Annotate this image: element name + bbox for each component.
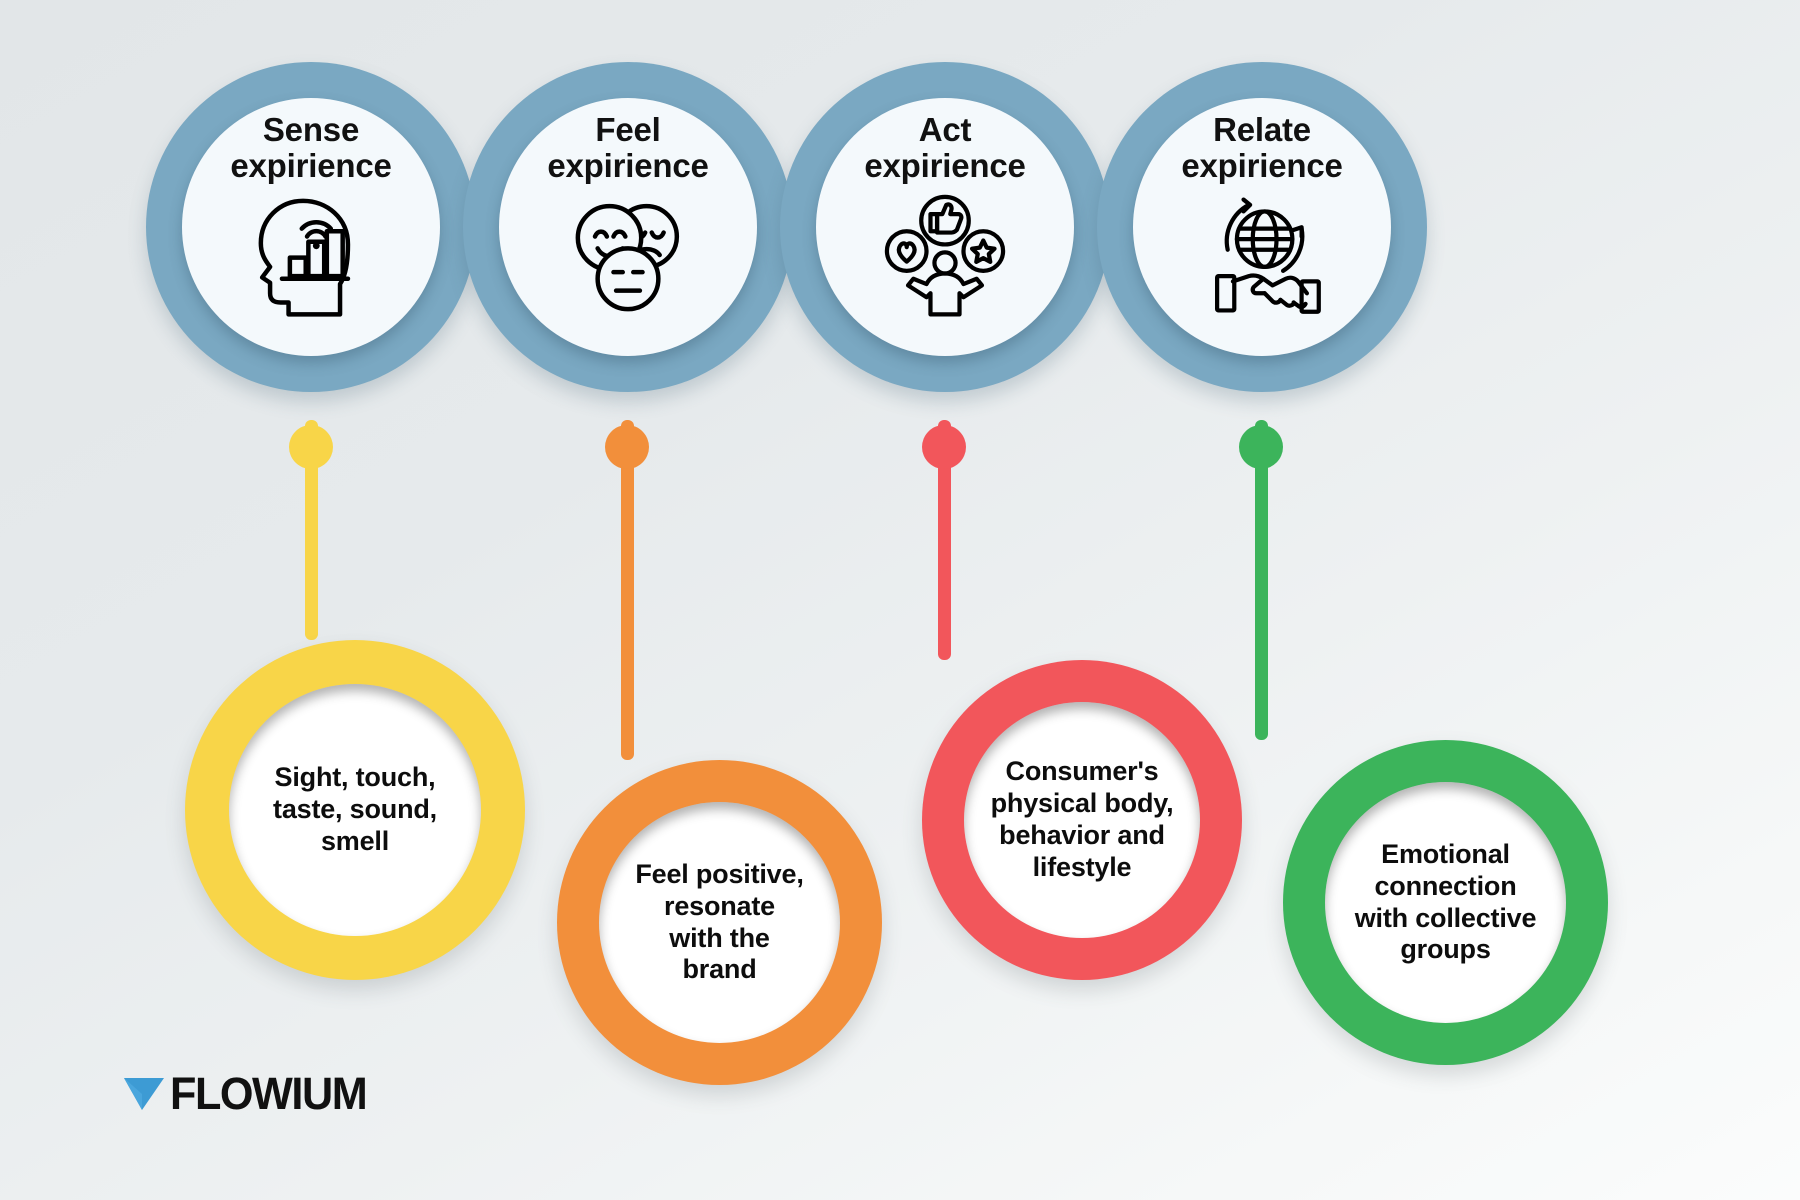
bottom-node-act-text: Consumer's physical body, behavior and l…: [991, 756, 1174, 883]
top-node-relate-title-line2: expirience: [1142, 148, 1382, 184]
connector-dot-sense: [289, 425, 333, 469]
bottom-node-sense-line1: Sight, touch,: [273, 762, 437, 794]
bottom-node-feel-line4: brand: [635, 954, 803, 986]
three-emotion-faces-icon: [562, 189, 694, 321]
head-signal-chart-icon: [245, 189, 377, 321]
bottom-node-relate-text: Emotional connection with collective gro…: [1355, 839, 1537, 966]
bottom-node-feel-line2: resonate: [635, 891, 803, 923]
top-node-relate[interactable]: Relate expirience: [1097, 62, 1427, 392]
bottom-node-act-line3: behavior and: [991, 820, 1174, 852]
connector-dot-act: [922, 425, 966, 469]
bottom-node-relate-line1: Emotional: [1355, 839, 1537, 871]
top-node-sense-title: Sense expirience: [191, 112, 431, 183]
top-node-act[interactable]: Act expirience: [780, 62, 1110, 392]
connector-line-feel: [621, 420, 634, 760]
top-node-feel-inner: Feel expirience: [499, 98, 757, 356]
bottom-node-feel-inner: Feel positive, resonate with the brand: [599, 802, 840, 1043]
globe-handshake-icon: [1196, 189, 1328, 321]
top-node-relate-title: Relate expirience: [1142, 112, 1382, 183]
bottom-node-act[interactable]: Consumer's physical body, behavior and l…: [922, 660, 1242, 980]
bottom-node-feel-line3: with the: [635, 923, 803, 955]
top-node-feel-title-line2: expirience: [508, 148, 748, 184]
person-thumbsup-heart-star-icon: [879, 189, 1011, 321]
bottom-node-relate-line4: groups: [1355, 934, 1537, 966]
top-node-act-title-line1: Act: [825, 112, 1065, 148]
bottom-node-act-line1: Consumer's: [991, 756, 1174, 788]
bottom-node-act-line4: lifestyle: [991, 852, 1174, 884]
bottom-node-sense-line3: smell: [273, 826, 437, 858]
triangle-play-mark-icon: [122, 1074, 166, 1114]
connector-dot-relate: [1239, 425, 1283, 469]
top-node-act-title: Act expirience: [825, 112, 1065, 183]
connector-dot-feel: [605, 425, 649, 469]
top-node-relate-inner: Relate expirience: [1133, 98, 1391, 356]
bottom-node-feel-text: Feel positive, resonate with the brand: [635, 859, 803, 986]
bottom-node-act-line2: physical body,: [991, 788, 1174, 820]
bottom-node-feel[interactable]: Feel positive, resonate with the brand: [557, 760, 882, 1085]
top-node-relate-title-line1: Relate: [1142, 112, 1382, 148]
top-node-sense-title-line2: expirience: [191, 148, 431, 184]
bottom-node-feel-line1: Feel positive,: [635, 859, 803, 891]
top-node-sense-inner: Sense expirience: [182, 98, 440, 356]
top-node-feel-title-line1: Feel: [508, 112, 748, 148]
bottom-node-act-inner: Consumer's physical body, behavior and l…: [964, 702, 1200, 938]
bottom-node-relate-line2: connection: [1355, 871, 1537, 903]
top-node-feel[interactable]: Feel expirience: [463, 62, 793, 392]
top-node-sense-title-line1: Sense: [191, 112, 431, 148]
bottom-node-relate-inner: Emotional connection with collective gro…: [1325, 782, 1566, 1023]
bottom-node-sense-line2: taste, sound,: [273, 794, 437, 826]
top-node-act-inner: Act expirience: [816, 98, 1074, 356]
flowium-logo[interactable]: FLOWIUM: [122, 1068, 374, 1120]
bottom-node-sense[interactable]: Sight, touch, taste, sound, smell: [185, 640, 525, 980]
top-node-feel-title: Feel expirience: [508, 112, 748, 183]
bottom-node-sense-text: Sight, touch, taste, sound, smell: [273, 762, 437, 858]
bottom-node-relate-line3: with collective: [1355, 903, 1537, 935]
top-node-act-title-line2: expirience: [825, 148, 1065, 184]
top-node-sense[interactable]: Sense expirience: [146, 62, 476, 392]
bottom-node-sense-inner: Sight, touch, taste, sound, smell: [229, 684, 481, 936]
infographic-canvas: Sense expirience Feel: [0, 0, 1800, 1200]
bottom-node-relate[interactable]: Emotional connection with collective gro…: [1283, 740, 1608, 1065]
flowium-wordmark: FLOWIUM: [170, 1068, 366, 1120]
